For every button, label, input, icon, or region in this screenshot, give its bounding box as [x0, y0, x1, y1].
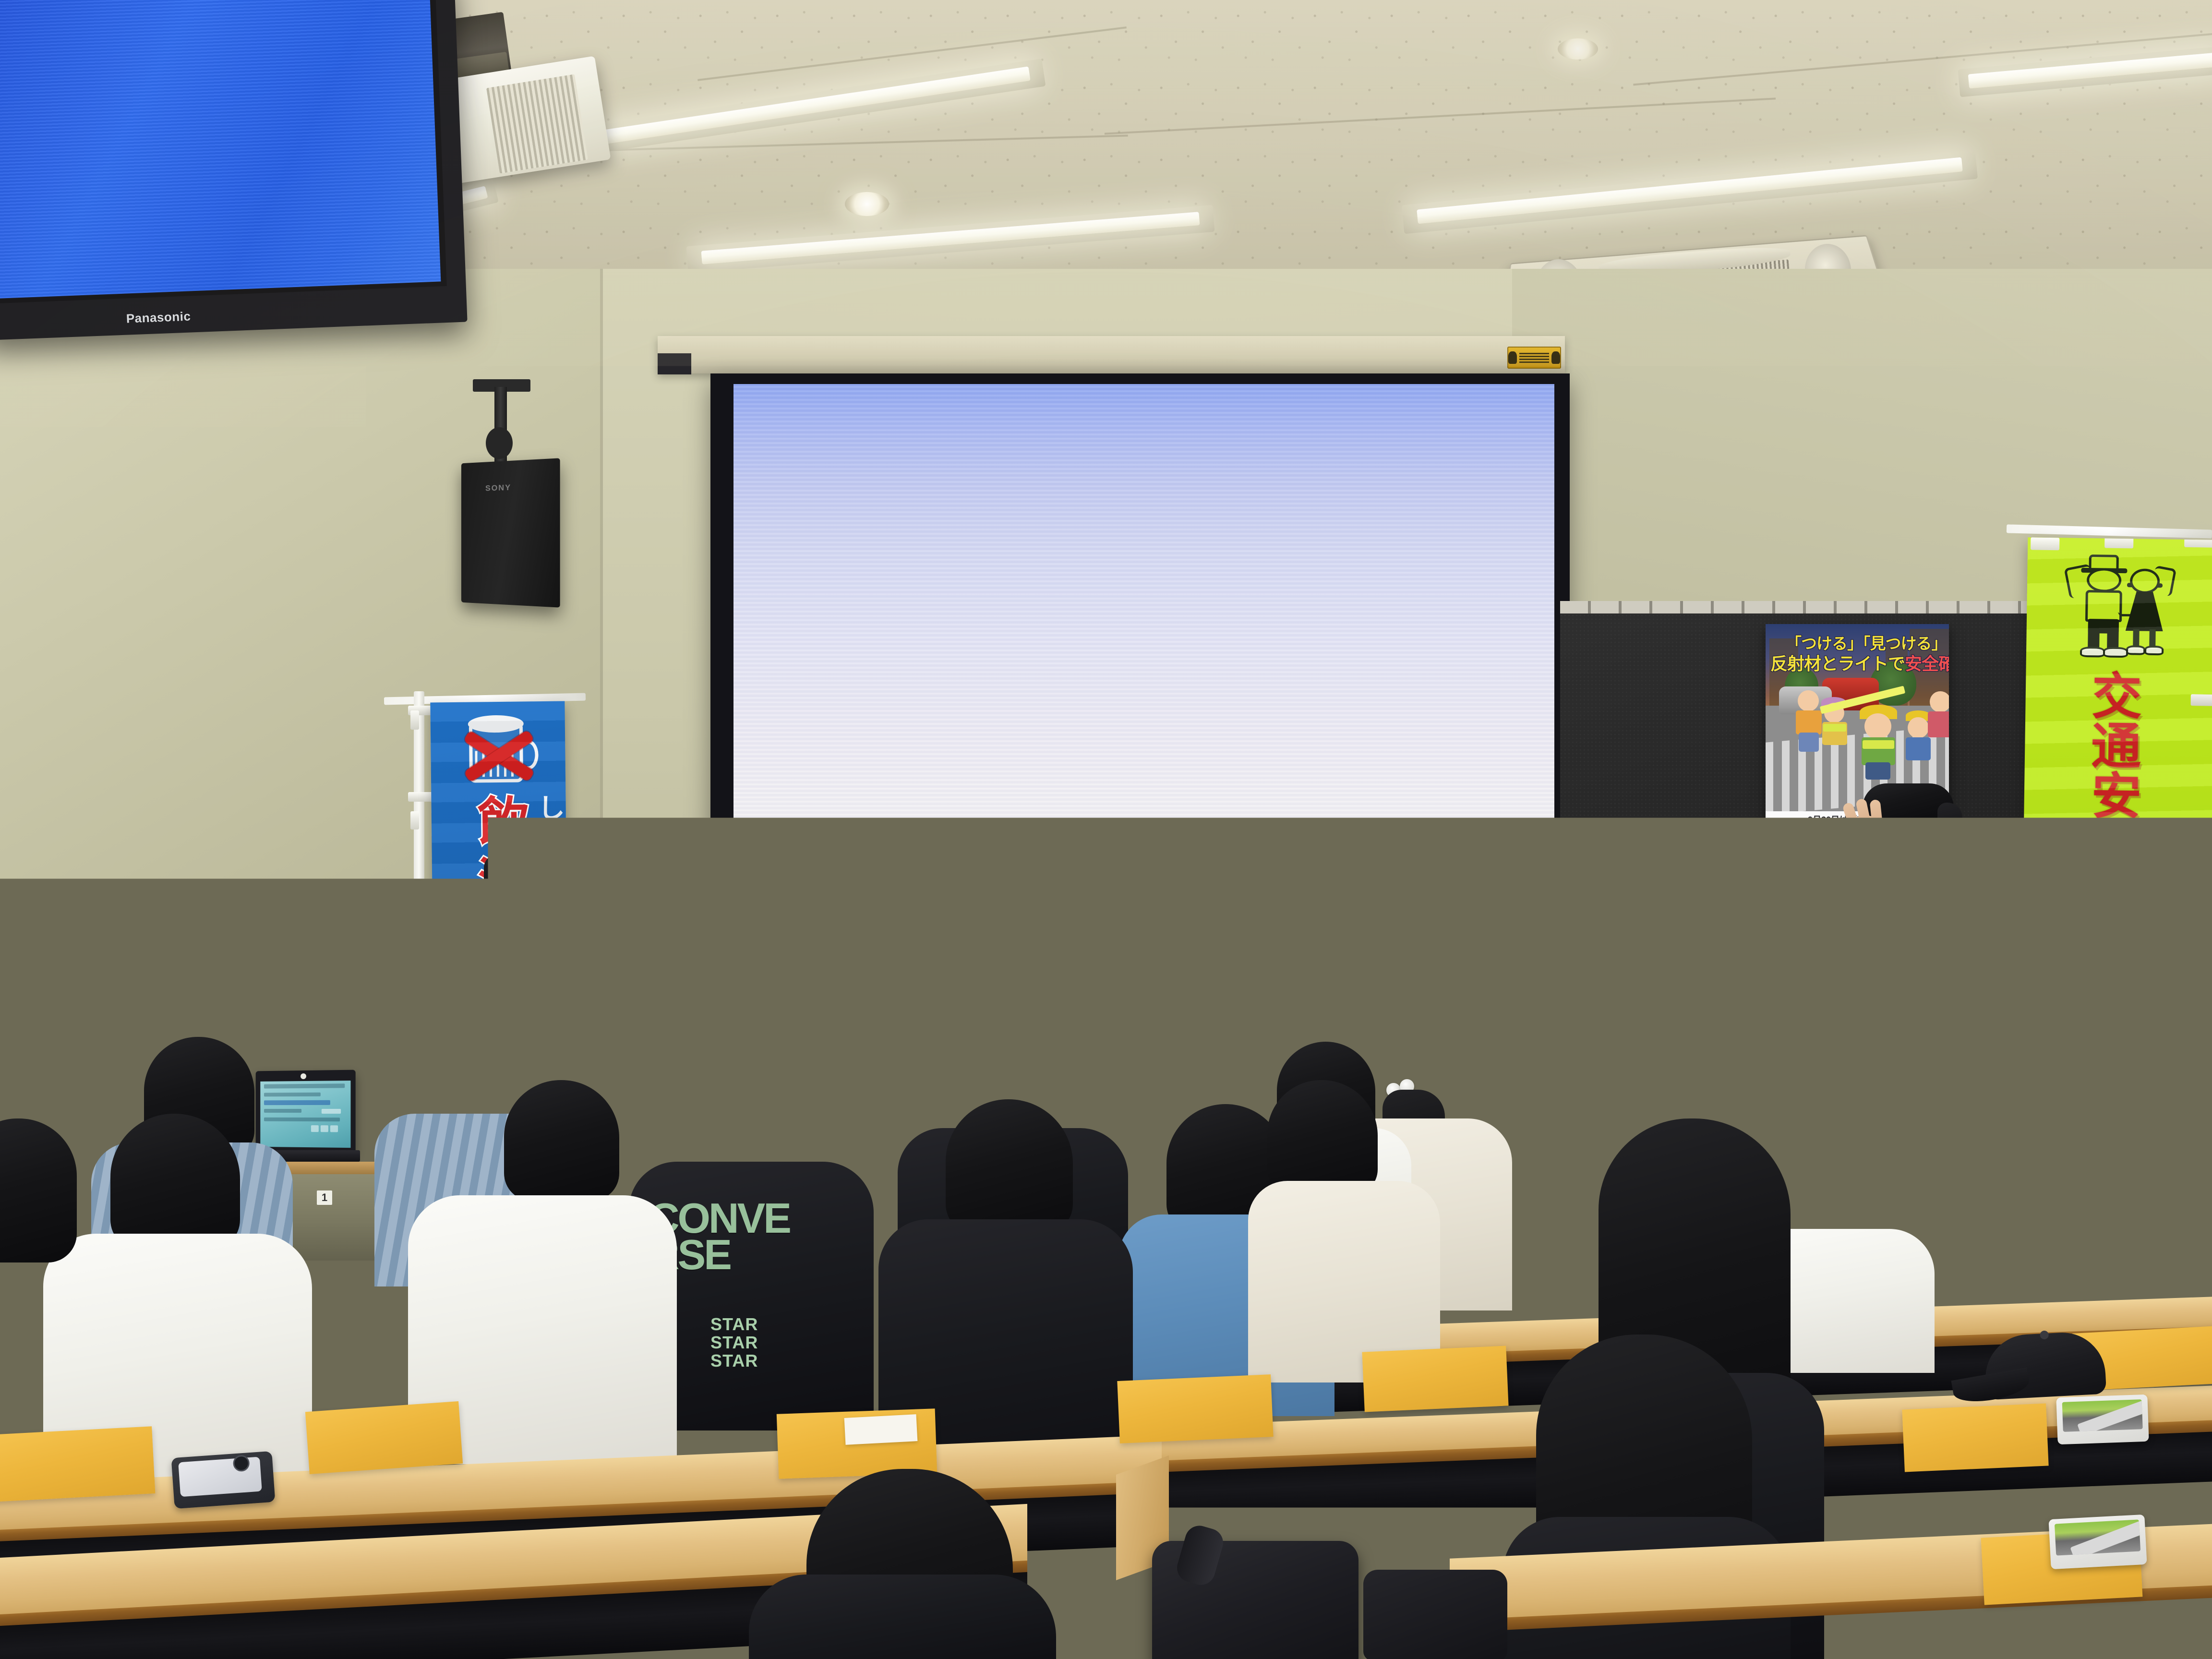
poster-child-body: [1906, 737, 1931, 760]
projector-vent: [486, 74, 588, 174]
poster-reflector-vest: [1863, 740, 1894, 749]
poster-child-legs: [1865, 762, 1890, 780]
officer-left-eye: [517, 880, 529, 885]
podium-top-surface: [1438, 986, 1836, 1003]
poster-reflector-vest: [1823, 724, 1846, 732]
smartphone-white-screen: [2055, 1519, 2140, 1555]
podium-ledge: [1439, 988, 1478, 1000]
bag: [1118, 1483, 1210, 1551]
projection-screen-housing: [658, 336, 1565, 373]
paper-note: [844, 1414, 918, 1445]
lecture-hall-photo: Panasonic SONY: [0, 0, 2212, 1659]
officer-right-armband: [1972, 992, 2039, 1071]
screen-road-graphic: [2077, 1399, 2143, 1432]
laptop-ui-row: [264, 1109, 301, 1113]
student-head: [946, 1099, 1073, 1235]
banner-figure-adult-legs: [2088, 620, 2100, 650]
officer-left-epaulet: [567, 945, 612, 957]
poster-child: [1928, 691, 1949, 754]
laptop-ui-chip: [322, 1109, 341, 1114]
laptop-ui-chip: [321, 1125, 328, 1132]
poster-child-head: [1798, 690, 1819, 711]
speaker-mount-joint: [486, 427, 513, 459]
banner-right-kanji-1: 交: [2092, 672, 2142, 722]
officer-left-hair-side: [554, 853, 579, 934]
beer-mug-lines: [475, 751, 518, 777]
banner-figure-adult-arm: [2118, 595, 2140, 617]
av-cabinet-number-tag: 1: [317, 1190, 332, 1205]
poster-child-head: [1930, 691, 1949, 712]
officer-left-button: [527, 1031, 535, 1039]
tshirt-graphic-sub: STAR STAR STAR: [710, 1315, 806, 1370]
wallpaper-shape: [47, 964, 104, 1022]
smartphone-white: [2048, 1515, 2147, 1569]
poster-child-head: [1908, 717, 1929, 738]
banner-right-kanji-5: 運: [2092, 871, 2142, 922]
red-x-stroke: [464, 730, 535, 782]
banner-right-kanji-8: 施: [2095, 1018, 2146, 1069]
banner-figure-adult-head: [2087, 568, 2122, 592]
student-head: [941, 994, 1027, 1080]
caution-label: [1507, 347, 1561, 369]
laptop-webcam: [301, 1073, 306, 1079]
laptop-ui-row: [264, 1083, 345, 1088]
banner-right-traffic-safety: 交 通 安 全 運 動 実 施 中: [2020, 537, 2212, 1116]
banner-pole-clip: [410, 898, 419, 916]
tv-brand-label: Panasonic: [126, 309, 191, 326]
poster-headline-part-a: 反射材とライトで: [1770, 654, 1905, 673]
banner-figure-child-head: [2130, 568, 2160, 594]
banner-figure-adult-shoe: [2103, 647, 2128, 658]
envelope-handwriting: [8, 1451, 32, 1463]
laptop-ui-bar: [264, 1100, 330, 1105]
poster-child-body: [1928, 711, 1949, 737]
banner-clip: [2189, 996, 2210, 1008]
banner-figure-child-leg: [2149, 629, 2156, 649]
banner-figure-child-leg: [2133, 629, 2140, 649]
caution-text-lines: [1519, 352, 1549, 363]
banner-figure-adult-hat: [2089, 554, 2118, 571]
ceiling-speaker: SONY: [461, 458, 560, 607]
officer-left-hair-side: [484, 854, 508, 933]
banner-figure-child-arm: [2151, 565, 2176, 597]
tv-screen: [0, 0, 441, 299]
banner-figure-child-shoe: [2144, 646, 2164, 656]
envelope: [1362, 1346, 1508, 1412]
wallpaper-shape: [67, 916, 166, 1017]
student-head: [110, 1114, 240, 1250]
banner-right-kanji-3: 安: [2091, 771, 2141, 822]
ceiling-downlight: [1558, 38, 1598, 60]
banner-clip: [2190, 850, 2212, 862]
banner-pole-clip: [410, 710, 419, 730]
banner-figure-adult-hips: [2088, 619, 2119, 634]
student-head: [1267, 1080, 1378, 1195]
officer-right-hair-side: [1937, 803, 1962, 878]
poster-child: [1857, 705, 1903, 781]
poster-thumbnail: [1789, 865, 1810, 878]
speaker-brand-label: SONY: [485, 483, 511, 493]
smartphone-dark: [171, 1451, 276, 1509]
banner-figure-adult-body: [2085, 590, 2122, 622]
officer-right-glasses-bridge: [1901, 846, 1910, 848]
laptop-screen: [260, 1081, 350, 1148]
beer-mug-handle: [518, 740, 539, 769]
projection-screen: [733, 384, 1554, 984]
monitor-watermark: RAS: [169, 1009, 192, 1021]
microphone-head: [1887, 868, 1915, 896]
officer-right-chest-badge: [1942, 985, 1973, 1002]
document-camera-indicator: [1584, 970, 1596, 977]
banner-pole-clip: [410, 811, 419, 829]
ceiling-tv: Panasonic: [0, 0, 468, 340]
banner-figure-child-dress: [2126, 591, 2164, 631]
banner-figure-adult-legs: [2107, 620, 2119, 651]
banner-clip: [2031, 537, 2059, 550]
wall-seam: [600, 269, 603, 989]
poster-headline-line2: 反射材とライトで安全確保: [1770, 650, 1949, 675]
officer-left-mouth: [527, 911, 547, 915]
poster-headline-part-b: 安全確保: [1905, 654, 1949, 673]
wallpaper-shape: [104, 936, 211, 1022]
banner-figure-adult-hat-brim: [2081, 568, 2127, 573]
cap-button: [2040, 1331, 2049, 1340]
document-camera-bracket: [1608, 971, 1623, 1028]
banner-right-kanji-9: 中: [2097, 1065, 2147, 1116]
screen-road-graphic: [2070, 1519, 2140, 1555]
poster-child-head: [1864, 713, 1891, 739]
banner-right-kanji-6: 動: [2093, 921, 2143, 972]
officer-left-armband: [581, 972, 620, 1028]
smartphone-white-screen: [2062, 1399, 2143, 1432]
banner-left-kana: し: [538, 787, 565, 826]
badge-center-dot: [569, 1008, 577, 1016]
officer-right-hand-mic: [1868, 897, 1927, 957]
laptop-ui-chip: [311, 1125, 319, 1132]
envelope: [305, 1401, 463, 1474]
student-head: [691, 1046, 811, 1174]
banner-right-kanji-2: 通: [2091, 721, 2141, 772]
student-head: [1776, 1118, 1896, 1246]
document-camera-lens: [1534, 990, 1569, 1018]
caution-person-icon: [1551, 351, 1560, 364]
envelope: [0, 1426, 155, 1502]
banner-figure-adult-arm: [2064, 564, 2095, 599]
banner-clip: [2104, 537, 2133, 548]
student-torso: [1887, 1090, 2021, 1205]
banner-figure-adult-shoe: [2080, 647, 2105, 658]
caution-person-icon: [1508, 351, 1517, 364]
poster-child-body: [1796, 710, 1822, 734]
banner-figure-child-hat-brim: [2127, 583, 2163, 588]
screen-housing-end: [658, 353, 691, 374]
banner-right-kanji-7: 実: [2094, 971, 2144, 1022]
officer-left-button: [528, 982, 536, 990]
smartphone-white: [2056, 1395, 2149, 1445]
student-torso-foreground: [749, 1575, 1056, 1659]
banner-clip: [2191, 694, 2212, 706]
laptop-ui-chip: [330, 1125, 338, 1132]
laptop-ui-row: [264, 1118, 340, 1121]
case-latch: [388, 990, 409, 1000]
red-x-stroke: [463, 730, 535, 782]
beer-mug-icon: [469, 724, 523, 782]
laptop-ui-row: [264, 1093, 321, 1097]
beer-foam: [468, 715, 524, 733]
banner-figure-child-shoe: [2126, 645, 2145, 655]
officer-right-glasses-lens-right: [1909, 838, 1937, 857]
student-head: [504, 1080, 619, 1201]
banner-right-kanji-4: 全: [2092, 821, 2142, 872]
poster-child-legs: [1799, 733, 1819, 752]
ceiling-downlight: [845, 192, 889, 216]
officer-left-eye: [541, 879, 552, 884]
envelope: [1117, 1374, 1273, 1443]
bag: [1363, 1570, 1507, 1659]
envelope: [1902, 1404, 2048, 1472]
laptop: [256, 1070, 356, 1153]
wallpaper-shape: [135, 960, 208, 1032]
